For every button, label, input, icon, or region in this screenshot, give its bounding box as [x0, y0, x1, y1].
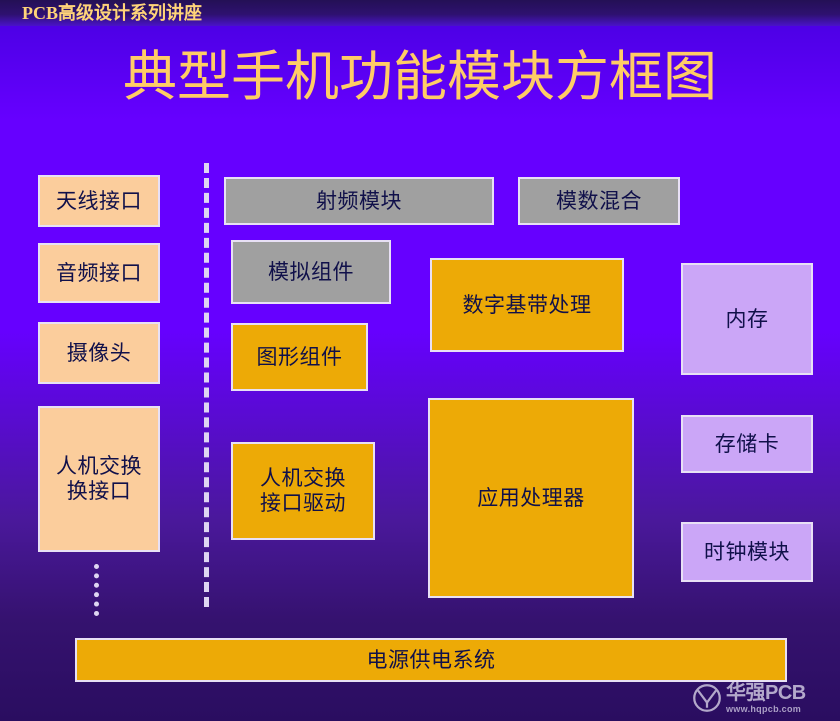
block-application-processor: 应用处理器 [428, 398, 634, 598]
block-label: 人机交换 换接口 [52, 454, 146, 504]
block-label: 应用处理器 [473, 486, 589, 511]
block-label: 模拟组件 [264, 260, 358, 285]
block-label: 数字基带处理 [459, 293, 596, 318]
block-label: 摄像头 [63, 341, 136, 366]
course-series-title: PCB高级设计系列讲座 [22, 1, 202, 25]
block-label: 图形组件 [253, 345, 347, 370]
block-audio-interface: 音频接口 [38, 243, 160, 303]
block-camera: 摄像头 [38, 322, 160, 384]
watermark-brand: 华强PCB [726, 683, 806, 703]
block-label: 时钟模块 [700, 540, 794, 565]
block-label: 天线接口 [52, 189, 146, 214]
block-digital-baseband: 数字基带处理 [430, 258, 624, 352]
block-analog-components: 模拟组件 [231, 240, 391, 304]
block-mixed-signal: 模数混合 [518, 177, 680, 225]
block-label: 音频接口 [52, 261, 146, 286]
watermark-url: www.hqpcb.com [726, 705, 806, 714]
block-label: 人机交换 接口驱动 [256, 466, 350, 516]
main-vertical-divider [204, 163, 209, 607]
block-clock-module: 时钟模块 [681, 522, 813, 582]
block-label: 电源供电系统 [363, 648, 500, 673]
hqpcb-logo-icon [692, 683, 722, 713]
block-memory-card: 存储卡 [681, 415, 813, 473]
block-label: 模数混合 [552, 189, 646, 214]
block-label: 射频模块 [312, 189, 406, 214]
block-ram: 内存 [681, 263, 813, 375]
block-hmi-driver: 人机交换 接口驱动 [231, 442, 375, 540]
block-graphics-components: 图形组件 [231, 323, 368, 391]
page-title: 典型手机功能模块方框图 [0, 46, 840, 108]
block-antenna-interface: 天线接口 [38, 175, 160, 227]
block-label: 内存 [722, 307, 773, 332]
block-rf-module: 射频模块 [224, 177, 494, 225]
block-power-supply-system: 电源供电系统 [75, 638, 787, 682]
block-hmi-interface: 人机交换 换接口 [38, 406, 160, 552]
slide-canvas: PCB高级设计系列讲座 典型手机功能模块方框图 天线接口音频接口摄像头人机交换 … [0, 0, 840, 721]
interface-stub-divider [94, 564, 99, 616]
watermark: 华强PCB www.hqpcb.com [692, 679, 834, 717]
block-label: 存储卡 [711, 432, 784, 457]
